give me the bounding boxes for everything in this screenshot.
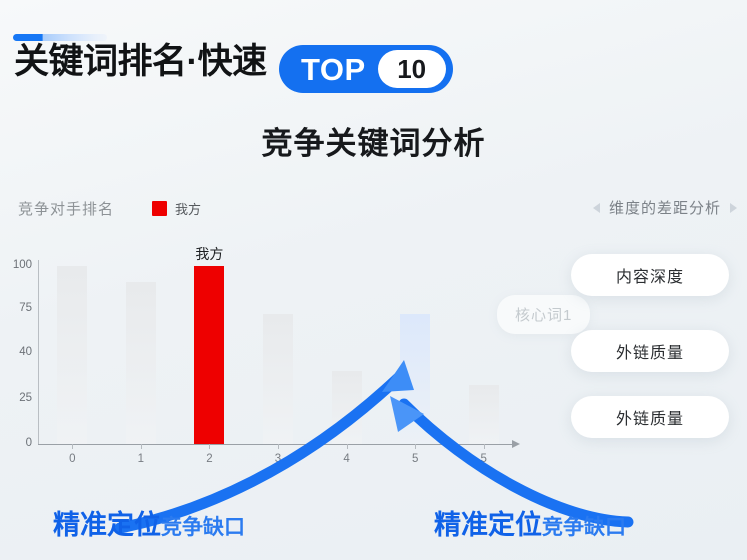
x-axis-tick-mark — [484, 444, 485, 449]
progress-bar — [13, 34, 107, 41]
bar-competitor — [400, 314, 430, 444]
chart-plot-area: 我方 — [38, 252, 518, 444]
bar-competitor — [332, 371, 362, 444]
right-panel-title: 维度的差距分析 — [609, 197, 721, 218]
triangle-left-icon — [593, 203, 600, 213]
callout-left-weak: 竞争缺口 — [161, 511, 245, 541]
x-axis-tick-mark — [347, 444, 348, 449]
triangle-right-icon — [730, 203, 737, 213]
legend-swatch-icon — [152, 201, 167, 216]
right-panel-header: 维度的差距分析 — [593, 197, 737, 218]
legend-label: 我方 — [175, 199, 201, 218]
bar-competitor — [469, 385, 499, 444]
bar-competitor — [57, 266, 87, 444]
callout-right-strong: 精准定位 — [434, 503, 542, 542]
x-axis-tick-label: 4 — [343, 453, 349, 465]
x-axis-tick-label: 5 — [412, 453, 418, 465]
legend-item-ours: 我方 — [152, 199, 201, 218]
x-axis-tick-mark — [72, 444, 73, 449]
competitor-ranking-chart: 1007540250 我方 0123455 — [0, 252, 540, 482]
chart-caption: 竞争对手排名 — [18, 198, 114, 219]
headline-text: 关键词排名·快速 — [14, 44, 267, 79]
bar-ours-label: 我方 — [195, 244, 223, 264]
dimension-card-content-depth[interactable]: 内容深度 — [571, 254, 729, 296]
top-rank-pill: TOP 10 — [279, 45, 453, 93]
x-axis-tick-label: 5 — [481, 453, 487, 465]
core-keyword-chip[interactable]: 核心词1 — [497, 295, 590, 334]
dimension-card-backlink-quality-2[interactable]: 外链质量 — [571, 396, 729, 438]
top-pill-label: TOP — [301, 54, 378, 85]
bar-ours — [194, 266, 224, 444]
chart-legend-row: 竞争对手排名 我方 — [18, 198, 201, 219]
x-axis-tick-label: 1 — [138, 453, 144, 465]
page-title: 竞争关键词分析 — [0, 118, 747, 163]
callout-left-strong: 精准定位 — [53, 503, 161, 542]
callout-right-weak: 竞争缺口 — [542, 511, 626, 541]
x-axis-line — [38, 444, 514, 445]
x-axis-tick-label: 2 — [206, 453, 212, 465]
dimension-card-backlink-quality-1[interactable]: 外链质量 — [571, 330, 729, 372]
y-axis-tick-label: 40 — [19, 346, 32, 358]
x-axis-tick-mark — [415, 444, 416, 449]
callout-left: 精准定位 竞争缺口 — [53, 503, 245, 542]
headline: 关键词排名·快速 — [14, 44, 267, 79]
callout-right: 精准定位 竞争缺口 — [434, 503, 626, 542]
y-axis-tick-label: 25 — [19, 392, 32, 404]
top-pill-badge: 10 — [378, 50, 446, 88]
x-axis-tick-mark — [278, 444, 279, 449]
y-axis-tick-label: 75 — [19, 302, 32, 314]
x-axis-tick-mark — [209, 444, 210, 449]
bar-competitor — [126, 282, 156, 444]
x-axis-tick-mark — [141, 444, 142, 449]
y-axis-tick-label: 0 — [26, 437, 32, 449]
x-axis-tick-label: 0 — [69, 453, 75, 465]
bar-competitor — [263, 314, 293, 444]
x-axis-tick-label: 3 — [275, 453, 281, 465]
y-axis-tick-label: 100 — [13, 259, 32, 271]
